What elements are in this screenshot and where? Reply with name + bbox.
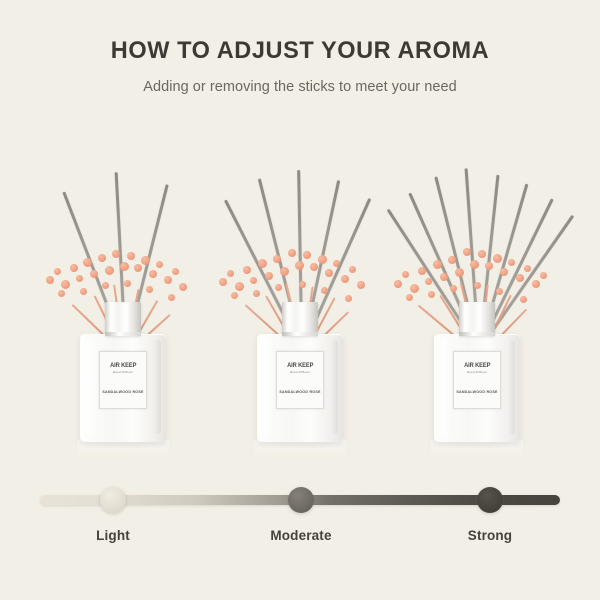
intensity-slider[interactable] — [40, 489, 560, 511]
page-subtitle: Adding or removing the sticks to meet yo… — [0, 79, 600, 95]
bottle-reflection — [77, 440, 169, 458]
slider-label-strong: Strong — [468, 528, 512, 543]
product-stage: AIR KEEP Reed Diffuser SANDALWOOD ROSE — [205, 140, 395, 460]
slider-labels: Light Moderate Strong — [0, 528, 600, 552]
bottle-collar — [459, 302, 495, 336]
label-brand: AIR KEEP — [464, 363, 490, 369]
label-scent: SANDALWOOD ROSE — [454, 390, 500, 395]
bottle-label: AIR KEEP Reed Diffuser SANDALWOOD ROSE — [276, 351, 324, 409]
slider-label-light: Light — [96, 528, 130, 543]
diffuser-bottle: AIR KEEP Reed Diffuser SANDALWOOD ROSE — [80, 302, 166, 442]
slider-handle-moderate[interactable] — [288, 487, 314, 513]
product-stage: AIR KEEP Reed Diffuser SANDALWOOD ROSE — [382, 140, 572, 460]
label-brand: AIR KEEP — [110, 363, 136, 369]
label-brand: AIR KEEP — [287, 363, 313, 369]
bottle-body: AIR KEEP Reed Diffuser SANDALWOOD ROSE — [434, 334, 520, 442]
aroma-infographic: HOW TO ADJUST YOUR AROMA Adding or remov… — [0, 0, 600, 600]
page-title: HOW TO ADJUST YOUR AROMA — [12, 38, 588, 65]
bottle-body: AIR KEEP Reed Diffuser SANDALWOOD ROSE — [80, 334, 166, 442]
label-tagline: Reed Diffuser — [467, 371, 487, 374]
product-strong: AIR KEEP Reed Diffuser SANDALWOOD ROSE — [382, 140, 572, 460]
bottle-collar — [105, 302, 141, 336]
label-tagline: Reed Diffuser — [290, 371, 310, 374]
bottle-body: AIR KEEP Reed Diffuser SANDALWOOD ROSE — [257, 334, 343, 442]
label-tagline: Reed Diffuser — [113, 371, 133, 374]
label-scent: SANDALWOOD ROSE — [277, 390, 323, 395]
diffuser-bottle: AIR KEEP Reed Diffuser SANDALWOOD ROSE — [257, 302, 343, 442]
product-light: AIR KEEP Reed Diffuser SANDALWOOD ROSE — [28, 140, 218, 460]
diffuser-bottle: AIR KEEP Reed Diffuser SANDALWOOD ROSE — [434, 302, 520, 442]
slider-handle-strong[interactable] — [477, 487, 503, 513]
bottle-label: AIR KEEP Reed Diffuser SANDALWOOD ROSE — [99, 351, 147, 409]
bottle-reflection — [431, 440, 523, 458]
bottle-collar — [282, 302, 318, 336]
product-stage: AIR KEEP Reed Diffuser SANDALWOOD ROSE — [28, 140, 218, 460]
header: HOW TO ADJUST YOUR AROMA Adding or remov… — [0, 38, 600, 95]
product-row: AIR KEEP Reed Diffuser SANDALWOOD ROSE — [0, 140, 600, 460]
product-moderate: AIR KEEP Reed Diffuser SANDALWOOD ROSE — [205, 140, 395, 460]
bottle-label: AIR KEEP Reed Diffuser SANDALWOOD ROSE — [453, 351, 501, 409]
label-scent: SANDALWOOD ROSE — [100, 390, 146, 395]
bottle-reflection — [254, 440, 346, 458]
slider-handle-light[interactable] — [100, 487, 126, 513]
slider-label-moderate: Moderate — [270, 528, 331, 543]
